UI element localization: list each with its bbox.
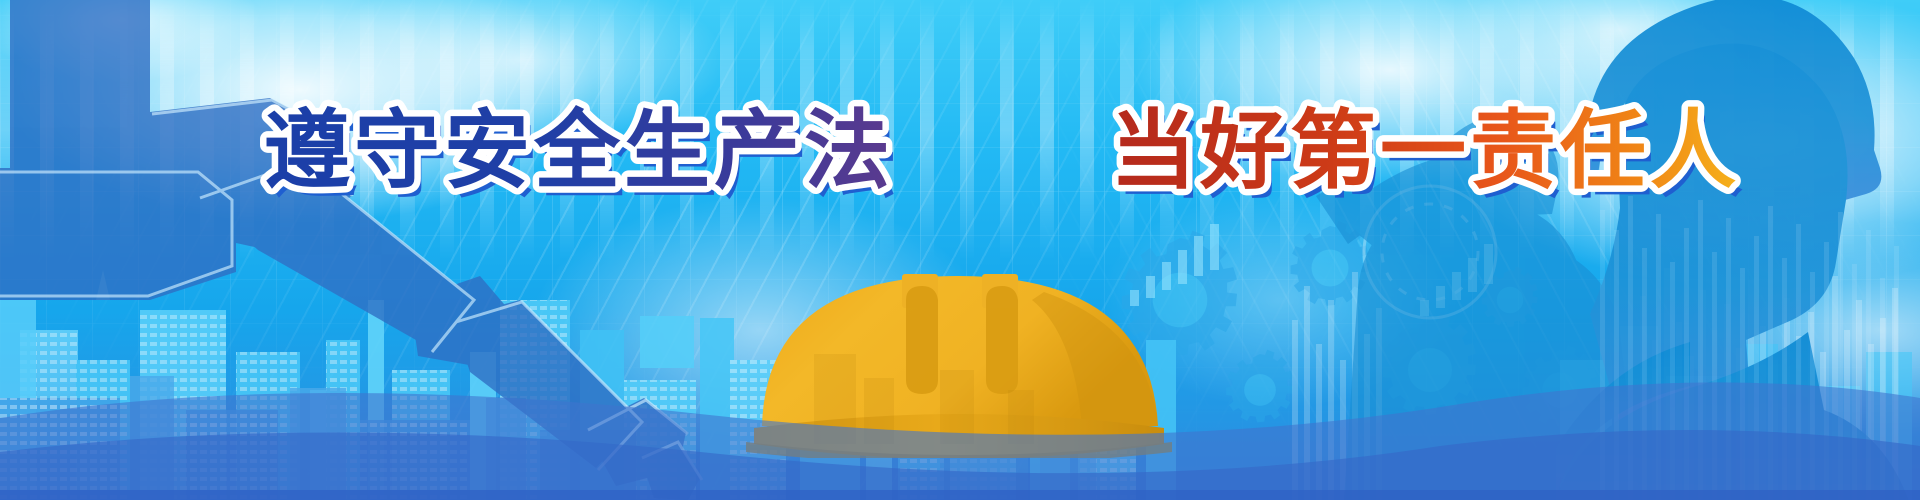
safety-banner: 遵守安全生产法 当好第一责任人 遵守安全生产法 当好第一责任人 遵守安全生产法 … [0, 0, 1920, 500]
bottom-wave [0, 0, 1920, 500]
